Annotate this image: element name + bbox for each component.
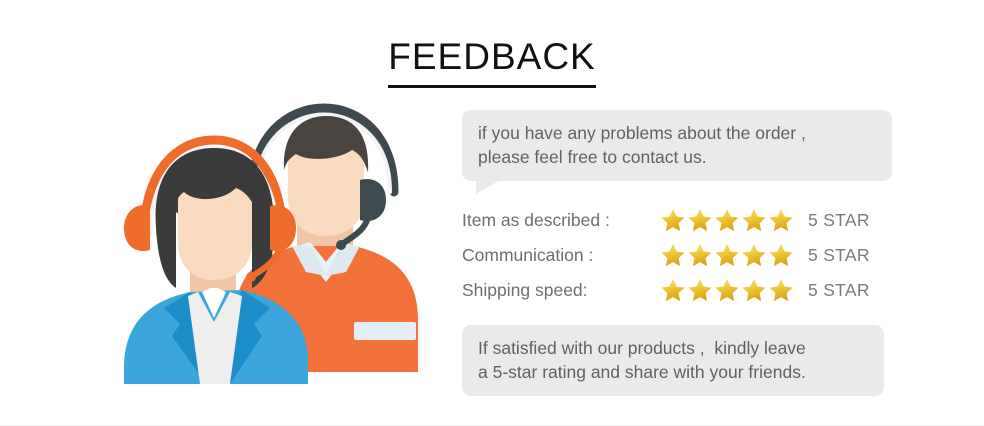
star-icon [768,207,794,233]
rating-row: Communication : 5 STAR [462,238,902,272]
rating-row: Shipping speed: 5 STAR [462,273,902,307]
star-icon [741,207,767,233]
closing-message-line-2: a 5-star rating and share with your frie… [478,360,868,384]
spacer [462,308,902,325]
intro-message-line-2: please feel free to contact us. [478,145,876,169]
intro-message-line-1: if you have any problems about the order… [478,121,876,145]
star-rating-item-as-described [660,207,795,233]
star-icon [768,277,794,303]
page-title: FEEDBACK [0,36,984,88]
rating-value-communication: 5 STAR [808,245,870,266]
rating-value-shipping-speed: 5 STAR [808,280,870,301]
customer-service-agents-illustration [102,96,434,384]
rating-label-shipping-speed: Shipping speed: [462,280,660,301]
star-icon [714,207,740,233]
intro-message-bubble: if you have any problems about the order… [462,110,892,181]
star-icon [714,242,740,268]
star-icon [768,242,794,268]
star-icon [660,242,686,268]
rating-label-communication: Communication : [462,245,660,266]
feedback-banner: FEEDBACK [0,0,984,426]
ratings-list: Item as described : 5 STAR Communication… [462,203,902,307]
star-icon [741,242,767,268]
star-rating-shipping-speed [660,277,795,303]
feedback-content: if you have any problems about the order… [462,110,902,396]
star-icon [687,277,713,303]
star-rating-communication [660,242,795,268]
star-icon [660,277,686,303]
star-icon [660,207,686,233]
closing-message-line-1: If satisfied with our products , kindly … [478,336,868,360]
rating-row: Item as described : 5 STAR [462,203,902,237]
star-icon [687,207,713,233]
closing-message-bubble: If satisfied with our products , kindly … [462,325,884,396]
star-icon [714,277,740,303]
rating-label-item-as-described: Item as described : [462,210,660,231]
page-title-text: FEEDBACK [388,36,595,88]
rating-value-item-as-described: 5 STAR [808,210,870,231]
speech-bubble-tail [476,179,502,194]
star-icon [687,242,713,268]
star-icon [741,277,767,303]
